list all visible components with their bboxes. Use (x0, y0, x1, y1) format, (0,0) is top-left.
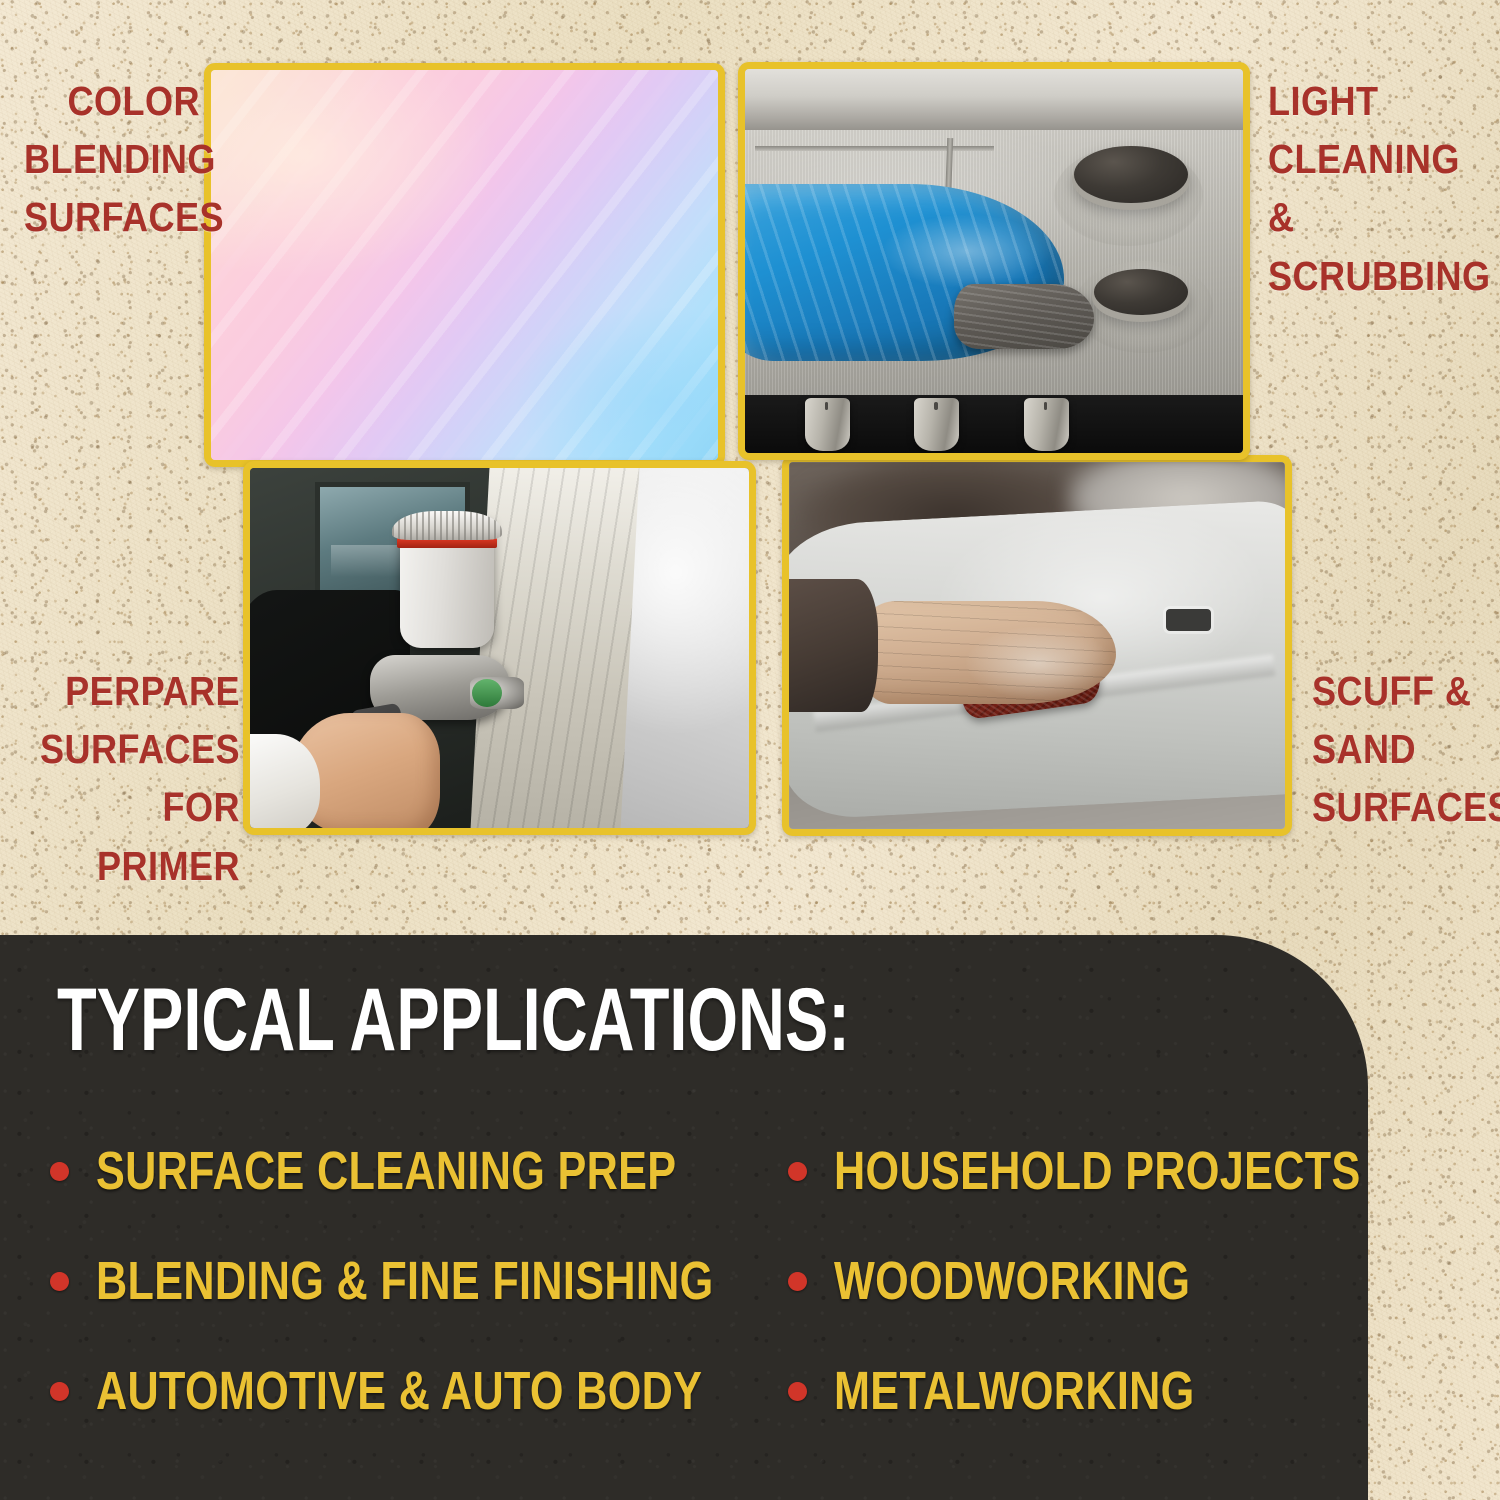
application-label: AUTOMOTIVE & AUTO BODY (96, 1364, 702, 1418)
stove-control-panel (745, 395, 1243, 453)
application-label: BLENDING & FINE FINISHING (96, 1254, 714, 1308)
application-label: HOUSEHOLD PROJECTS (834, 1144, 1361, 1198)
list-item: AUTOMOTIVE & AUTO BODY (50, 1336, 868, 1446)
bullet-dot-icon (50, 1162, 69, 1181)
photo-frame-scuff-sand (782, 455, 1292, 836)
stove-seam-horizontal (755, 146, 994, 151)
photo-frame-prepare-primer (243, 461, 756, 835)
caption-prepare-surfaces-for-primer: PERPARE SURFACES FOR PRIMER (29, 662, 240, 895)
stove-knob-1 (805, 398, 850, 451)
list-item: METALWORKING (788, 1336, 1492, 1446)
list-item: HOUSEHOLD PROJECTS (788, 1116, 1492, 1226)
list-item: BLENDING & FINE FINISHING (50, 1226, 868, 1336)
application-label: WOODWORKING (834, 1254, 1190, 1308)
panel-slot-cutout (1166, 609, 1211, 631)
bullet-dot-icon (50, 1382, 69, 1401)
bullet-dot-icon (788, 1382, 807, 1401)
applications-list-right: HOUSEHOLD PROJECTS WOODWORKING METALWORK… (788, 1116, 1492, 1446)
worker-sleeve (789, 579, 878, 711)
bullet-dot-icon (788, 1162, 807, 1181)
bullet-dot-icon (50, 1272, 69, 1291)
hand-sanding-car-panel-photo (789, 462, 1285, 829)
spray-gun-green-ring (472, 679, 502, 708)
bullet-dot-icon (788, 1272, 807, 1291)
caption-scuff-sand-surfaces: SCUFF & SAND SURFACES (1312, 662, 1477, 837)
stove-knob-3 (1024, 398, 1069, 451)
burner-cap-top (1074, 146, 1189, 204)
application-label: SURFACE CLEANING PREP (96, 1144, 676, 1198)
hand-fingers-shading (858, 601, 1116, 704)
iridescent-blended-surface-photo (211, 70, 718, 460)
stove-backsplash (745, 69, 1243, 134)
list-item: SURFACE CLEANING PREP (50, 1116, 868, 1226)
caption-light-cleaning-scrubbing: LIGHT CLEANING & SCRUBBING (1268, 72, 1472, 305)
application-label: METALWORKING (834, 1364, 1195, 1418)
burner-cap-bottom (1094, 269, 1189, 315)
infographic-page: COLOR BLENDING SURFACES LIGHT CLEANING &… (0, 0, 1500, 1500)
spray-gun-painting-car-photo (250, 468, 749, 828)
caption-color-blending-surfaces: COLOR BLENDING SURFACES (24, 72, 200, 247)
photo-frame-light-cleaning (738, 62, 1250, 460)
iridescent-glow (211, 70, 718, 460)
gloved-hand-cleaning-stovetop-photo (745, 69, 1243, 453)
typical-applications-title: TYPICAL APPLICATIONS: (57, 975, 850, 1064)
cleaning-rag (954, 284, 1093, 349)
list-item: WOODWORKING (788, 1226, 1492, 1336)
stove-knob-2 (914, 398, 959, 451)
applications-list-left: SURFACE CLEANING PREP BLENDING & FINE FI… (50, 1116, 868, 1446)
photo-frame-color-blending (204, 63, 725, 467)
worker-hand (858, 601, 1116, 704)
spray-gun-lid (392, 511, 502, 540)
